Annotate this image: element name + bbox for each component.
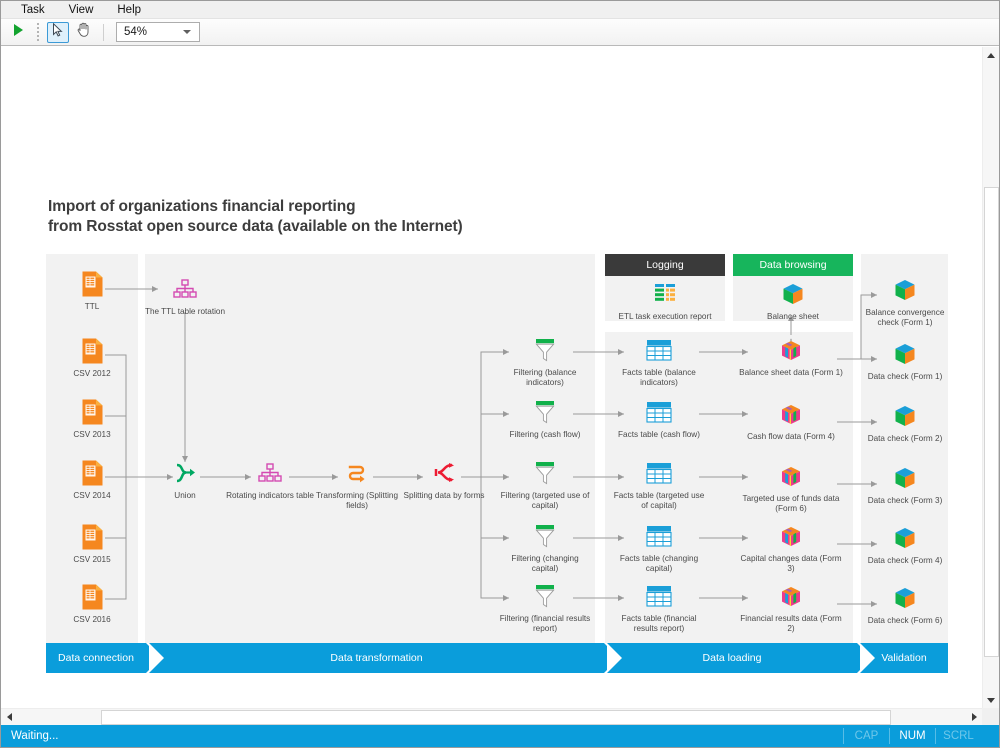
stage-band-validation[interactable]: Validation [860,643,948,673]
node-label: Cash flow data (Form 4) [736,432,846,442]
scroll-left-button[interactable] [1,709,17,725]
zoom-level-combobox[interactable]: 54% [116,22,200,42]
node-facts-changing-capital[interactable]: Facts table (changing capital) [611,521,707,574]
status-message: Waiting... [5,730,843,742]
node-label: ETL task execution report [617,312,713,322]
chevron-down-icon [183,30,191,34]
funnel-icon [497,335,593,365]
cube-icon [857,583,953,613]
menu-bar: Task View Help [1,1,999,19]
stage-band-data-loading[interactable]: Data loading [607,643,857,673]
pan-tool-button[interactable] [72,22,94,43]
union-icon [137,458,233,488]
table-icon [611,397,707,427]
toolbar: 54% [1,19,999,46]
node-label: CSV 2013 [44,430,140,440]
vertical-scrollbar[interactable] [982,47,999,708]
table-icon [611,335,707,365]
node-source-csv-2014[interactable]: CSV 2014 [44,458,140,501]
scrollbar-corner [982,708,999,725]
menu-item-view[interactable]: View [57,2,106,18]
cube-icon [857,523,953,553]
data-cube-icon [736,581,846,611]
stage-band-data-connection[interactable]: Data connection [46,643,146,673]
node-label: Capital changes data (Form 3) [736,554,846,574]
chevron-up-icon [987,53,995,58]
node-label: CSV 2014 [44,491,140,501]
node-label: Facts table (balance indicators) [611,368,707,388]
status-indicator-cap: CAP [843,728,889,744]
node-source-csv-2016[interactable]: CSV 2016 [44,582,140,625]
stage-band-label: Data loading [703,652,762,664]
cube-icon [745,279,841,309]
node-transforming-splitting-fields[interactable]: Transforming (Splitting fields) [309,458,405,511]
vertical-scrollbar-thumb[interactable] [984,187,999,657]
node-label: Data check (Form 3) [857,496,953,506]
status-indicator-num: NUM [889,728,935,744]
toolbar-grip[interactable] [35,23,41,41]
node-label: Data check (Form 1) [857,372,953,382]
node-label: Financial results data (Form 2) [736,614,846,634]
node-label: Filtering (changing capital) [497,554,593,574]
node-source-csv-2015[interactable]: CSV 2015 [44,522,140,565]
node-label: Data check (Form 6) [857,616,953,626]
node-label: Facts table (changing capital) [611,554,707,574]
node-data-check-form-3[interactable]: Data check (Form 3) [857,463,953,506]
node-cube-capital-changes-data[interactable]: Capital changes data (Form 3) [736,521,846,574]
node-source-csv-2013[interactable]: CSV 2013 [44,397,140,440]
split-icon [396,458,492,488]
node-cube-targeted-use-of-funds-data[interactable]: Targeted use of funds data (Form 6) [736,461,846,514]
node-label: Filtering (balance indicators) [497,368,593,388]
node-label: Filtering (targeted use of capital) [497,491,593,511]
funnel-icon [497,521,593,551]
node-ttl-table-rotation[interactable]: The TTL table rotation [137,274,233,317]
cube-icon [857,463,953,493]
horizontal-scrollbar[interactable] [1,708,982,725]
stage-band-label: Data connection [58,652,134,664]
table-icon [611,581,707,611]
node-label: Rotating indicators table [222,491,318,501]
menu-item-task[interactable]: Task [9,2,57,18]
funnel-icon [497,581,593,611]
diagram-canvas[interactable]: Import of organizations financial report… [1,47,982,708]
file-csv-icon [44,522,140,552]
logging-header: Logging [605,254,725,276]
scroll-right-button[interactable] [966,709,982,725]
node-cube-balance-sheet-data[interactable]: Balance sheet data (Form 1) [736,335,846,378]
file-csv-icon [44,336,140,366]
node-etl-task-execution-report[interactable]: ETL task execution report [617,279,713,322]
chevron-right-icon [972,713,977,721]
application-window: Task View Help [0,0,1000,748]
node-label: Facts table (cash flow) [611,430,707,440]
node-source-csv-2012[interactable]: CSV 2012 [44,336,140,379]
node-facts-balance-indicators[interactable]: Facts table (balance indicators) [611,335,707,388]
node-facts-targeted-use-of-capital[interactable]: Facts table (targeted use of capital) [611,458,707,511]
node-label: Targeted use of funds data (Form 6) [736,494,846,514]
node-label: The TTL table rotation [137,307,233,317]
page-title-line2: from Rosstat open source data (available… [48,217,463,237]
node-label: TTL [44,302,140,312]
data-cube-icon [736,335,846,365]
data-browsing-header: Data browsing [733,254,853,276]
horizontal-scrollbar-thumb[interactable] [101,710,891,725]
node-filter-balance-indicators[interactable]: Filtering (balance indicators) [497,335,593,388]
node-label: CSV 2012 [44,369,140,379]
node-label: Data check (Form 2) [857,434,953,444]
node-cube-cash-flow-data[interactable]: Cash flow data (Form 4) [736,399,846,442]
node-label: Balance sheet data (Form 1) [736,368,846,378]
data-cube-icon [736,461,846,491]
node-data-check-form-6[interactable]: Data check (Form 6) [857,583,953,626]
transform-icon [309,458,405,488]
data-cube-icon [736,399,846,429]
toolbar-separator [103,24,104,41]
data-cube-icon [736,521,846,551]
report-grid-icon [617,279,713,309]
file-csv-icon [44,582,140,612]
node-label: Union [137,491,233,501]
node-label: Filtering (financial results report) [497,614,593,634]
node-label: CSV 2015 [44,555,140,565]
node-splitting-data-by-forms[interactable]: Splitting data by forms [396,458,492,501]
node-label: Balance sheet [745,312,841,322]
file-csv-icon [44,397,140,427]
node-data-check-form-2[interactable]: Data check (Form 2) [857,401,953,444]
play-icon [13,23,24,41]
pivot-table-icon [222,458,318,488]
node-label: Transforming (Splitting fields) [309,491,405,511]
table-icon [611,521,707,551]
node-balance-sheet[interactable]: Balance sheet [745,279,841,322]
chevron-notch-shape [607,643,622,673]
node-label: Balance convergence check (Form 1) [857,308,953,328]
node-filter-targeted-use-of-capital[interactable]: Filtering (targeted use of capital) [497,458,593,511]
cube-icon [857,275,953,305]
stage-band-label: Data transformation [330,652,422,664]
status-indicator-scrl: SCRL [935,728,981,744]
select-tool-button[interactable] [47,22,69,43]
chevron-down-icon [987,698,995,703]
node-filter-financial-results-report[interactable]: Filtering (financial results report) [497,581,593,634]
cursor-arrow-icon [52,23,64,42]
run-button[interactable] [7,22,29,43]
node-source-ttl[interactable]: TTL [44,269,140,312]
stage-band-data-transformation[interactable]: Data transformation [149,643,604,673]
chevron-left-icon [7,713,12,721]
node-balance-convergence-check[interactable]: Balance convergence check (Form 1) [857,275,953,328]
status-bar: Waiting... CAP NUM SCRL [1,725,999,747]
cube-icon [857,401,953,431]
table-icon [611,458,707,488]
scroll-up-button[interactable] [983,47,999,63]
node-data-check-form-4[interactable]: Data check (Form 4) [857,523,953,566]
hand-icon [76,22,90,42]
page-title: Import of organizations financial report… [48,197,463,237]
node-facts-financial-results-report[interactable]: Facts table (financial results report) [611,581,707,634]
node-label: Facts table (financial results report) [611,614,707,634]
node-data-check-form-1[interactable]: Data check (Form 1) [857,339,953,382]
node-cube-financial-results-data[interactable]: Financial results data (Form 2) [736,581,846,634]
file-ttl-icon [44,269,140,299]
data-browsing-header-label: Data browsing [759,259,826,271]
node-label: Filtering (cash flow) [497,430,593,440]
node-rotating-indicators-table[interactable]: Rotating indicators table [222,458,318,501]
cube-icon [857,339,953,369]
node-filter-cash-flow[interactable]: Filtering (cash flow) [497,397,593,440]
funnel-icon [497,397,593,427]
zoom-level-value: 54% [124,26,147,38]
canvas-area: Import of organizations financial report… [1,46,999,725]
node-facts-cash-flow[interactable]: Facts table (cash flow) [611,397,707,440]
menu-item-help[interactable]: Help [105,2,153,18]
chevron-notch-shape [149,643,164,673]
node-label: Facts table (targeted use of capital) [611,491,707,511]
logging-header-label: Logging [646,259,683,271]
etl-diagram: Import of organizations financial report… [1,47,981,708]
node-filter-changing-capital[interactable]: Filtering (changing capital) [497,521,593,574]
scroll-down-button[interactable] [983,692,999,708]
node-label: CSV 2016 [44,615,140,625]
stage-band-label: Validation [881,652,926,664]
node-label: Splitting data by forms [396,491,492,501]
funnel-icon [497,458,593,488]
pivot-table-icon [137,274,233,304]
node-union[interactable]: Union [137,458,233,501]
node-label: Data check (Form 4) [857,556,953,566]
file-csv-icon [44,458,140,488]
page-title-line1: Import of organizations financial report… [48,197,463,217]
chevron-notch-shape [860,643,875,673]
